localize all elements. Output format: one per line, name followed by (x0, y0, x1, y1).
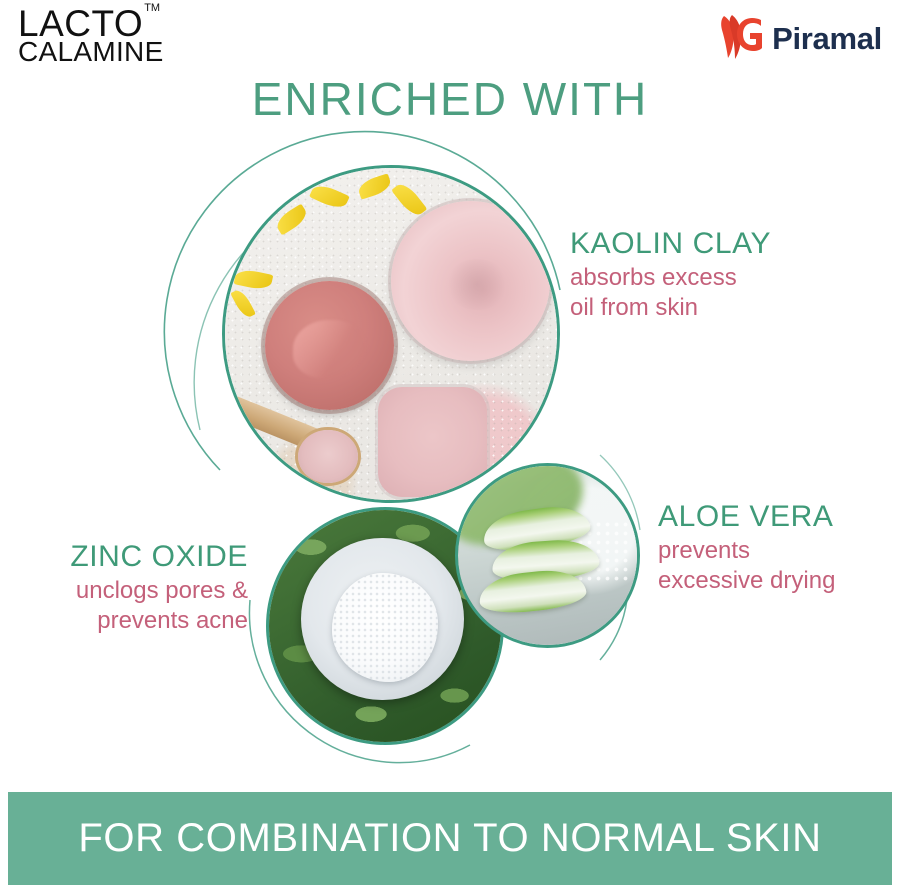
kaolin-clay-photo (222, 165, 560, 503)
ingredient-description-line1: absorbs excess (570, 263, 771, 294)
ingredient-name: ALOE VERA (658, 500, 835, 534)
ingredient-zinc-oxide: ZINC OXIDE unclogs pores & prevents acne (8, 540, 248, 637)
ingredient-description: unclogs pores & prevents acne (8, 576, 248, 637)
ingredient-description-line2: excessive drying (658, 566, 835, 597)
piramal-flame-icon (718, 12, 764, 65)
ingredient-description-line1: unclogs pores & (8, 576, 248, 607)
aloe-vera-photo-content (458, 466, 637, 645)
brand-name-line1: LACTOTM (18, 6, 159, 41)
trademark-symbol: TM (144, 2, 160, 14)
ingredient-description: prevents excessive drying (658, 536, 835, 597)
piramal-wordmark: Piramal (772, 21, 882, 57)
banner-text: FOR COMBINATION TO NORMAL SKIN (78, 816, 821, 861)
ingredient-description-line2: oil from skin (570, 293, 771, 324)
powder-dimple (445, 259, 509, 310)
page-title: ENRICHED WITH (0, 72, 900, 126)
ingredient-name: KAOLIN CLAY (570, 227, 771, 261)
ingredient-aloe-vera: ALOE VERA prevents excessive drying (658, 500, 835, 597)
ingredient-description-line1: prevents (658, 536, 835, 567)
zinc-powder-grain (332, 573, 439, 682)
ingredient-kaolin-clay: KAOLIN CLAY absorbs excess oil from skin (570, 227, 771, 324)
ingredient-name: ZINC OXIDE (8, 540, 248, 574)
ingredient-description: absorbs excess oil from skin (570, 263, 771, 324)
skin-type-banner: FOR COMBINATION TO NORMAL SKIN (8, 792, 892, 885)
lacto-calamine-logo: LACTOTM CALAMINE (18, 6, 198, 66)
pink-clay-paste-bowl (265, 281, 394, 410)
kaolin-clay-photo-content (225, 168, 557, 500)
piramal-logo: Piramal (718, 12, 882, 65)
clay-swirl (293, 320, 366, 378)
aloe-vera-photo (455, 463, 640, 648)
ingredient-description-line2: prevents acne (8, 606, 248, 637)
wooden-spoon-bowl (298, 430, 358, 483)
product-infographic: LACTOTM CALAMINE Piramal ENRICHED WITH (0, 0, 900, 885)
pink-powder-bowl (391, 201, 550, 360)
